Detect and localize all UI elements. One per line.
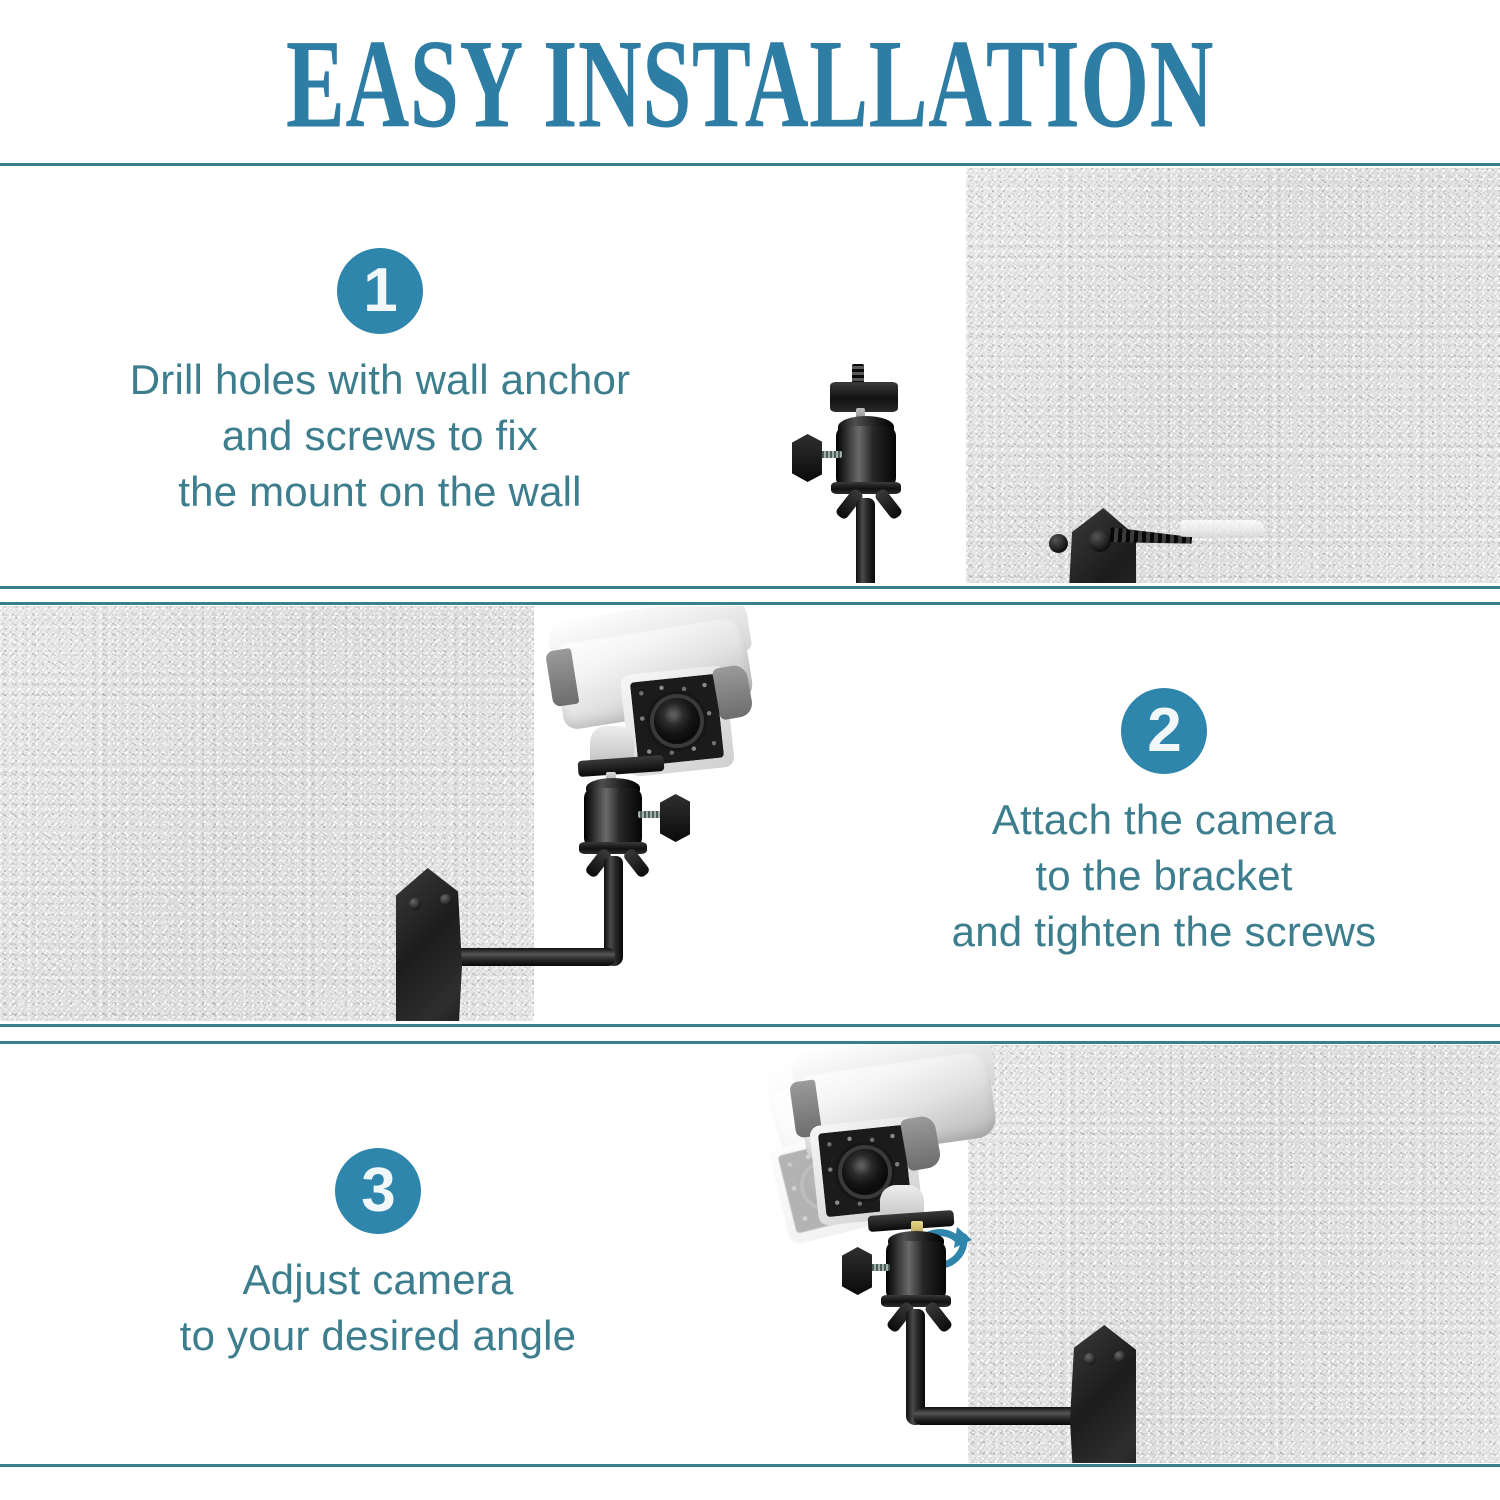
ball-head-base [881, 1295, 951, 1307]
step-caption-3: Adjust camera to your desired angle [108, 1252, 648, 1364]
step-number-badge-1: 1 [337, 248, 423, 334]
plate-screw-right [1114, 1351, 1126, 1363]
divider-2 [0, 602, 1500, 605]
divider-4 [0, 1041, 1500, 1044]
bracket-prong-right [622, 847, 651, 879]
thumb-screw-knob [660, 794, 690, 842]
step-panel-3: 3 Adjust camera to your desired angle [0, 1045, 1500, 1463]
divider-3 [0, 1024, 1500, 1027]
wall-anchor-top [1180, 520, 1264, 537]
mounting-plate [396, 868, 462, 1021]
camera-lens [654, 698, 700, 744]
plate-screw-left [409, 898, 421, 910]
plate-screw-head-top [1089, 530, 1111, 552]
camera-lens [842, 1149, 888, 1195]
thumb-screw-knob [842, 1247, 872, 1295]
bracket-horizontal-arm [443, 948, 615, 966]
ball-head-body [886, 1241, 946, 1301]
thumb-screw-knob [792, 434, 822, 482]
plate-screw-left [1084, 1353, 1096, 1365]
step-3-text-block: 3 Adjust camera to your desired angle [108, 1148, 648, 1364]
divider-bottom [0, 1464, 1500, 1467]
bracket-vertical-arm [856, 498, 875, 583]
ball-head-base [831, 482, 901, 494]
ball-head-body [584, 788, 642, 848]
mounting-plate [1070, 1325, 1136, 1463]
divider-top [0, 163, 1500, 166]
textured-wall [968, 1045, 1500, 1463]
header: EASY INSTALLATION [0, 0, 1500, 165]
step-2-text-block: 2 Attach the camera to the bracket and t… [884, 688, 1444, 960]
step-number-badge-3: 3 [335, 1148, 421, 1234]
step-caption-2: Attach the camera to the bracket and tig… [884, 792, 1444, 960]
plate-screw-right [440, 894, 452, 906]
plate-screw-head-left [1049, 534, 1068, 553]
step-panel-2: 2 Attach the camera to the bracket and t… [0, 606, 1500, 1021]
page-title: EASY INSTALLATION [286, 21, 1214, 148]
step-number-badge-2: 2 [1121, 688, 1207, 774]
step-panel-1: 1 Drill holes with wall anchor and screw… [0, 168, 1500, 583]
step-caption-1: Drill holes with wall anchor and screws … [60, 352, 700, 520]
ball-head-body [836, 426, 896, 488]
step-1-text-block: 1 Drill holes with wall anchor and screw… [60, 248, 700, 520]
installation-infographic: EASY INSTALLATION 1 Drill holes with wal… [0, 0, 1500, 1500]
divider-1 [0, 586, 1500, 589]
